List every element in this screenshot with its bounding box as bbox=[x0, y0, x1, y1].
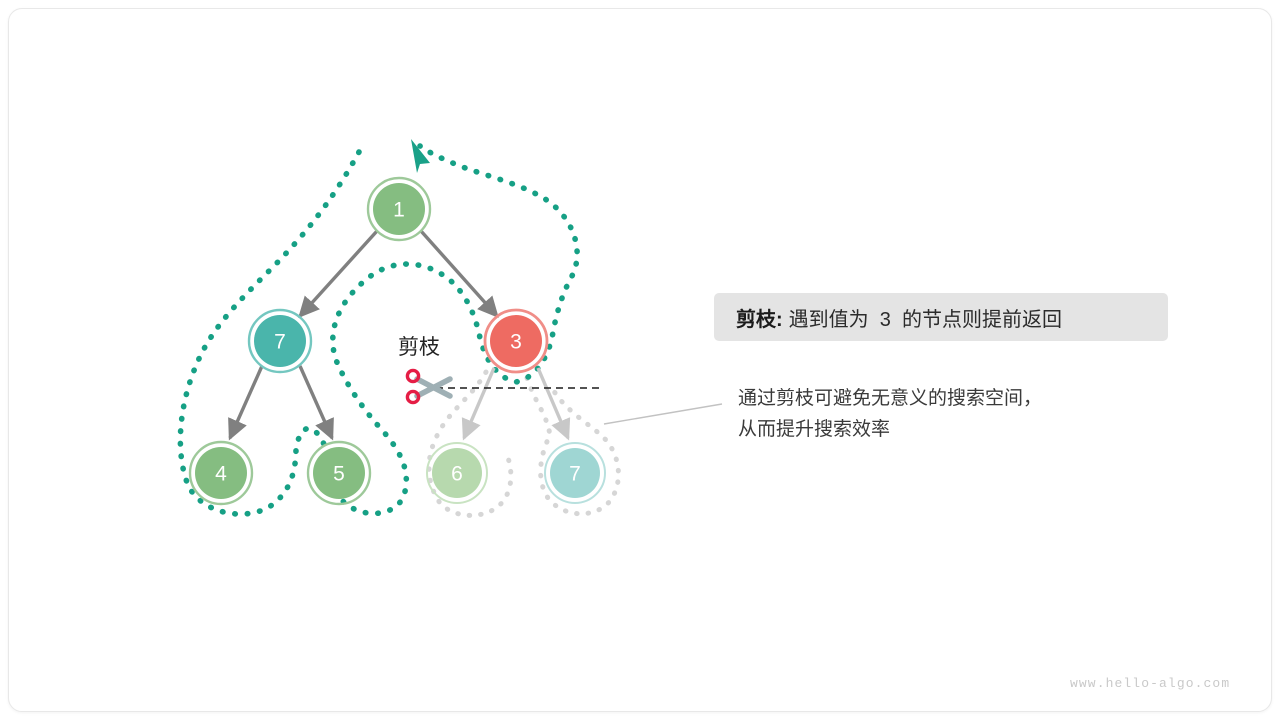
svg-text:5: 5 bbox=[333, 463, 345, 486]
tree-node-4[interactable]: 4 bbox=[190, 442, 252, 504]
svg-text:6: 6 bbox=[451, 463, 463, 486]
diagram-canvas: 6 7 1 7 3 4 5 bbox=[0, 0, 1280, 720]
tree-node-3[interactable]: 3 bbox=[485, 310, 547, 372]
svg-text:7: 7 bbox=[274, 331, 286, 354]
scissors-icon bbox=[407, 370, 450, 402]
svg-text:4: 4 bbox=[215, 463, 227, 486]
leader-line bbox=[604, 404, 722, 424]
tree-edges-faded bbox=[464, 368, 568, 438]
svg-text:3: 3 bbox=[510, 331, 522, 354]
tree-node-7-right[interactable]: 7 bbox=[545, 443, 605, 503]
prune-rule-text: 遇到值为 3 的节点则提前返回 bbox=[789, 303, 1062, 332]
prune-rule-badge: 剪枝: 遇到值为 3 的节点则提前返回 bbox=[714, 293, 1168, 341]
prune-rule-label: 剪枝: bbox=[736, 303, 783, 332]
svg-text:1: 1 bbox=[393, 199, 405, 222]
explanation-note: 通过剪枝可避免无意义的搜索空间， 从而提升搜索效率 bbox=[738, 383, 1042, 445]
tree-node-7-left[interactable]: 7 bbox=[249, 310, 311, 372]
tree-diagram: 6 7 1 7 3 4 5 bbox=[0, 0, 1280, 720]
site-watermark: www.hello-algo.com bbox=[1070, 676, 1230, 691]
tree-node-5[interactable]: 5 bbox=[308, 442, 370, 504]
tree-node-1[interactable]: 1 bbox=[368, 178, 430, 240]
cursor-arrow-icon bbox=[411, 139, 430, 173]
prune-caption: 剪枝 bbox=[398, 331, 440, 361]
svg-text:7: 7 bbox=[569, 463, 581, 486]
tree-node-6[interactable]: 6 bbox=[427, 443, 487, 503]
